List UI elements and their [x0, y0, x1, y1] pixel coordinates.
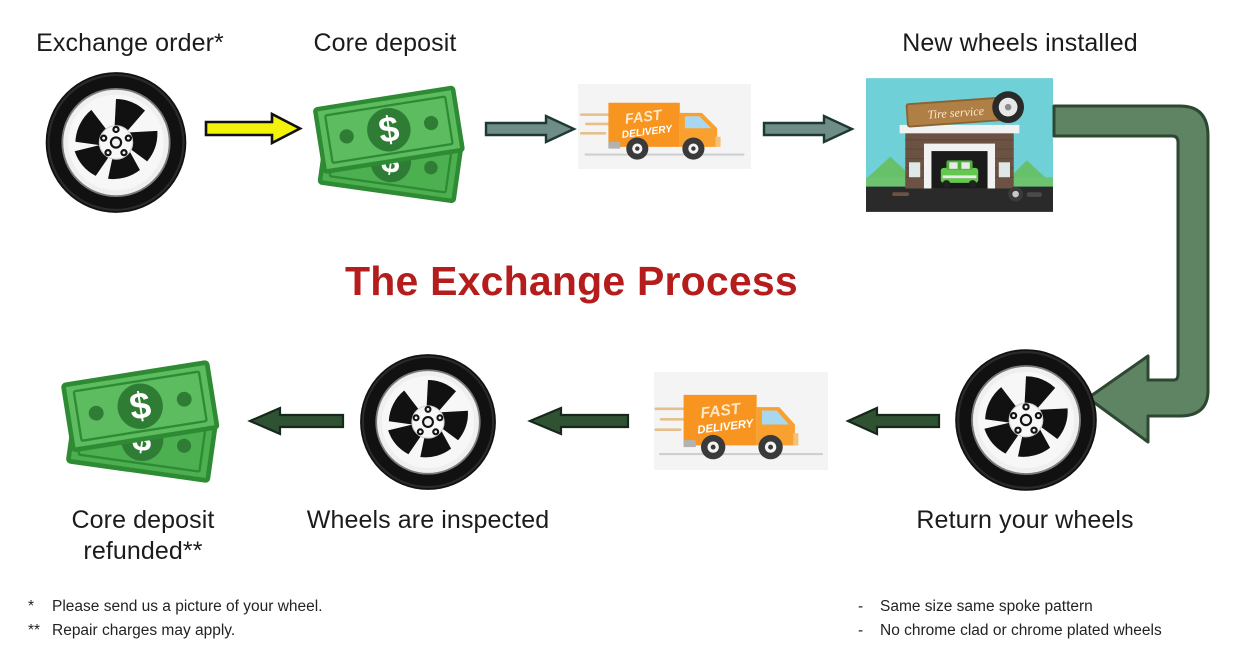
footnote-mark: **: [28, 619, 52, 643]
footnotes-right: - Same size same spoke pattern - No chro…: [858, 595, 1162, 643]
step-label-core-deposit: Core deposit: [285, 28, 485, 59]
arrow-order-to-deposit: [204, 112, 302, 145]
wheel-icon-return-your-wheels: [952, 347, 1100, 493]
footnote-text: Please send us a picture of your wheel.: [52, 595, 323, 619]
wheel-icon-exchange-order: [40, 70, 192, 215]
step-label-return-your-wheels: Return your wheels: [840, 505, 1210, 536]
arrow-shipping-to-install: [762, 114, 854, 144]
footnote-text: Same size same spoke pattern: [880, 595, 1093, 619]
footnote-left-2: ** Repair charges may apply.: [28, 619, 323, 643]
arrow-shipping-to-inspect: [527, 406, 630, 436]
step-label-core-deposit-refunded: Core deposit refunded**: [28, 505, 258, 567]
arrow-inspect-to-refund: [247, 406, 345, 436]
footnotes-left: * Please send us a picture of your wheel…: [28, 595, 323, 643]
money-icon-core-deposit-refunded: $ $: [58, 352, 230, 486]
exchange-process-diagram: Exchange order* Core deposit New wheels …: [0, 0, 1250, 666]
tire-service-shop-icon: Tire service: [866, 78, 1053, 212]
footnote-right-2: - No chrome clad or chrome plated wheels: [858, 619, 1162, 643]
step-label-new-wheels-installed: New wheels installed: [790, 28, 1250, 59]
footnote-text: Repair charges may apply.: [52, 619, 235, 643]
step-label-exchange-order: Exchange order*: [10, 28, 250, 59]
step-label-wheels-inspected: Wheels are inspected: [268, 505, 588, 536]
arrow-return-to-shipping: [845, 406, 941, 436]
money-icon-core-deposit: $ $: [310, 78, 475, 206]
page-title: The Exchange Process: [345, 258, 798, 305]
footnote-text: No chrome clad or chrome plated wheels: [880, 619, 1162, 643]
footnote-left-1: * Please send us a picture of your wheel…: [28, 595, 323, 619]
footnote-mark: *: [28, 595, 52, 619]
footnote-mark: -: [858, 595, 880, 619]
wheel-icon-wheels-inspected: [358, 352, 498, 492]
delivery-truck-icon-inbound: FAST DELIVERY: [654, 372, 828, 470]
delivery-truck-icon-outbound: FAST DELIVERY: [578, 84, 751, 169]
footnote-mark: -: [858, 619, 880, 643]
footnote-right-1: - Same size same spoke pattern: [858, 595, 1162, 619]
arrow-deposit-to-shipping: [484, 114, 576, 144]
